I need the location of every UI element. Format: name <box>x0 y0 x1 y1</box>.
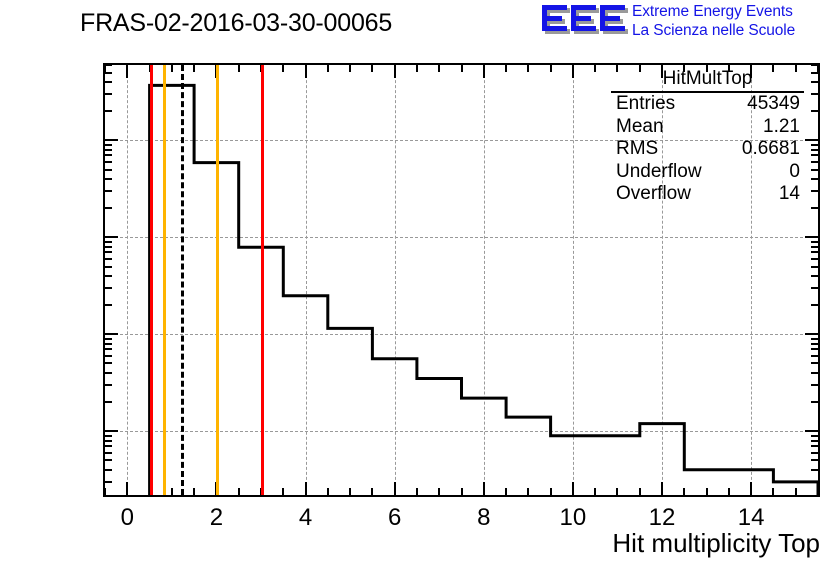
stats-row: Overflow14 <box>611 183 804 205</box>
x-axis-tick-label: 8 <box>464 505 504 531</box>
x-axis-tick-label: 2 <box>196 505 236 531</box>
marker-line-orange-high <box>216 65 219 495</box>
eee-logo-text: Extreme Energy Events La Scienza nelle S… <box>632 2 795 40</box>
stats-value: 14 <box>779 183 800 205</box>
stats-box: HitMultTop Entries45349Mean1.21RMS0.6681… <box>611 68 804 205</box>
stats-label: Entries <box>616 93 675 115</box>
x-axis-tick-label: 0 <box>107 505 147 531</box>
eee-logo-mark <box>540 3 628 39</box>
stats-value: 45349 <box>747 93 800 115</box>
stats-row: Underflow0 <box>611 161 804 183</box>
x-axis-tick-label: 6 <box>375 505 415 531</box>
root-canvas: FRAS-02-2016-03-30-00065 Extreme Ene <box>0 0 836 572</box>
stats-row: Mean1.21 <box>611 116 804 138</box>
stats-label: Underflow <box>616 161 702 183</box>
page-title: FRAS-02-2016-03-30-00065 <box>80 8 392 38</box>
marker-line-red-low <box>150 65 153 495</box>
stats-value: 1.21 <box>763 116 800 138</box>
stats-row: Entries45349 <box>611 93 804 115</box>
stats-value: 0.6681 <box>742 138 800 160</box>
marker-line-mean-dashed <box>181 65 184 495</box>
eee-logo-line2: La Scienza nelle Scuole <box>632 21 795 40</box>
marker-line-red-high <box>261 65 264 495</box>
stats-row: RMS0.6681 <box>611 138 804 160</box>
stats-title: HitMultTop <box>611 68 804 93</box>
stats-value: 0 <box>789 161 800 183</box>
eee-logo: Extreme Energy Events La Scienza nelle S… <box>540 1 836 43</box>
x-axis-tick-label: 10 <box>553 505 593 531</box>
stats-label: Mean <box>616 116 664 138</box>
stats-label: RMS <box>616 138 658 160</box>
x-axis-tick-label: 4 <box>286 505 326 531</box>
stats-label: Overflow <box>616 183 691 205</box>
stats-rows: Entries45349Mean1.21RMS0.6681Underflow0O… <box>611 93 804 205</box>
eee-logo-line1: Extreme Energy Events <box>632 2 795 21</box>
marker-line-orange-low <box>163 65 166 495</box>
x-axis-title: Hit multiplicity Top <box>612 528 820 558</box>
